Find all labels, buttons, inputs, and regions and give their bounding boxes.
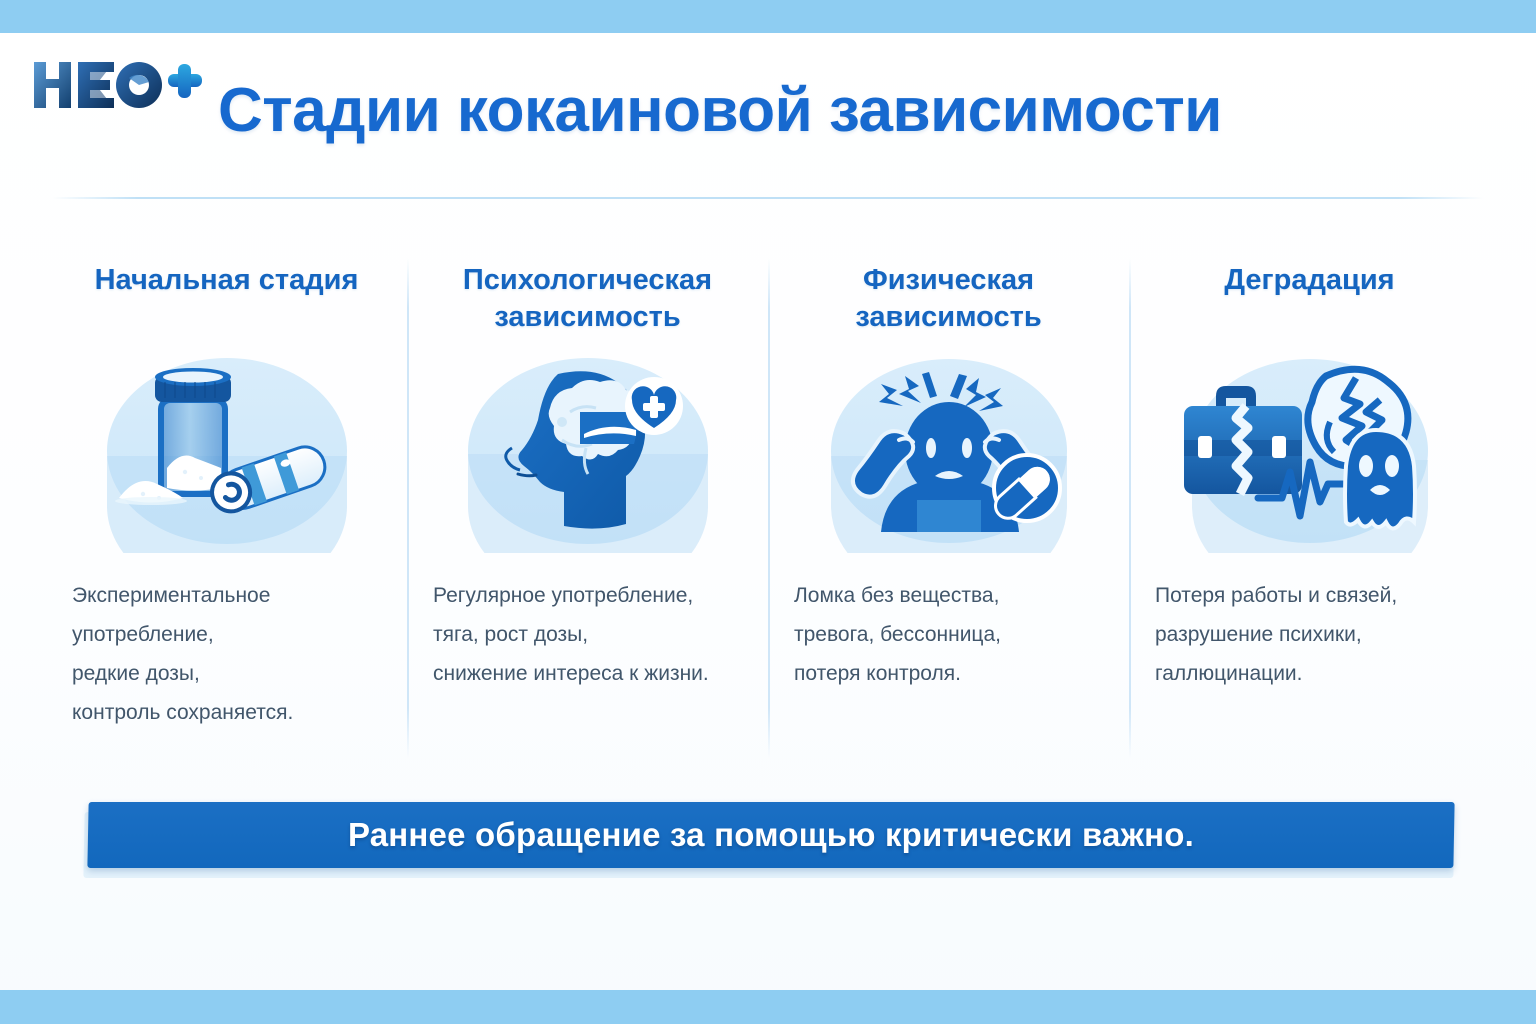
stage-2-line-2: тяга, рост дозы,: [433, 616, 754, 655]
bottom-accent-bar: [0, 990, 1536, 1024]
top-accent-bar: [0, 0, 1536, 33]
stages-row: Начальная стадия: [46, 248, 1490, 768]
stage-2-body: Регулярное употребление, тяга, рост дозы…: [421, 577, 754, 694]
stage-4-line-2: разрушение психики,: [1155, 616, 1476, 655]
stage-4-heading: Деградация: [1224, 262, 1394, 342]
stage-card-2: Психологическая зависимость: [407, 248, 768, 768]
powder-jar-rolled-bill-icon: [97, 348, 357, 553]
stage-1-line-2: употребление,: [72, 616, 393, 655]
stage-2-heading: Психологическая зависимость: [421, 262, 754, 342]
stage-3-line-2: тревога, бессонница,: [794, 616, 1115, 655]
stage-4-line-3: галлюцинации.: [1155, 655, 1476, 694]
neo-plus-logo: [26, 52, 206, 116]
head-brain-heart-icon: [458, 348, 718, 553]
stage-4-line-1: Потеря работы и связей,: [1155, 577, 1476, 616]
stage-2-line-3: снижение интереса к жизни.: [433, 655, 754, 694]
stage-3-line-3: потеря контроля.: [794, 655, 1115, 694]
stage-1-line-1: Экспериментальное: [72, 577, 393, 616]
banner-text: Раннее обращение за помощью критически в…: [88, 802, 1454, 868]
title-divider: [52, 197, 1484, 199]
stage-1-line-3: редкие дозы,: [72, 655, 393, 694]
stage-1-body: Экспериментальное употребление, редкие д…: [60, 577, 393, 732]
broken-briefcase-brain-ghost-icon: [1180, 348, 1440, 553]
stage-card-1: Начальная стадия: [46, 248, 407, 768]
stage-3-line-1: Ломка без вещества,: [794, 577, 1115, 616]
page-title: Стадии кокаиновой зависимости: [218, 78, 1478, 143]
infographic-poster: Стадии кокаиновой зависимости Начальная …: [0, 0, 1536, 1024]
stage-card-4: Деградация: [1129, 248, 1490, 768]
stage-4-body: Потеря работы и связей, разрушение психи…: [1143, 577, 1476, 694]
stage-3-body: Ломка без вещества, тревога, бессонница,…: [782, 577, 1115, 694]
stage-card-3: Физическая зависимость: [768, 248, 1129, 768]
stage-3-heading: Физическая зависимость: [782, 262, 1115, 342]
stage-2-line-1: Регулярное употребление,: [433, 577, 754, 616]
stage-1-line-4: контроль сохраняется.: [72, 694, 393, 733]
headache-person-pill-icon: [819, 348, 1079, 553]
stage-1-heading: Начальная стадия: [95, 262, 359, 342]
